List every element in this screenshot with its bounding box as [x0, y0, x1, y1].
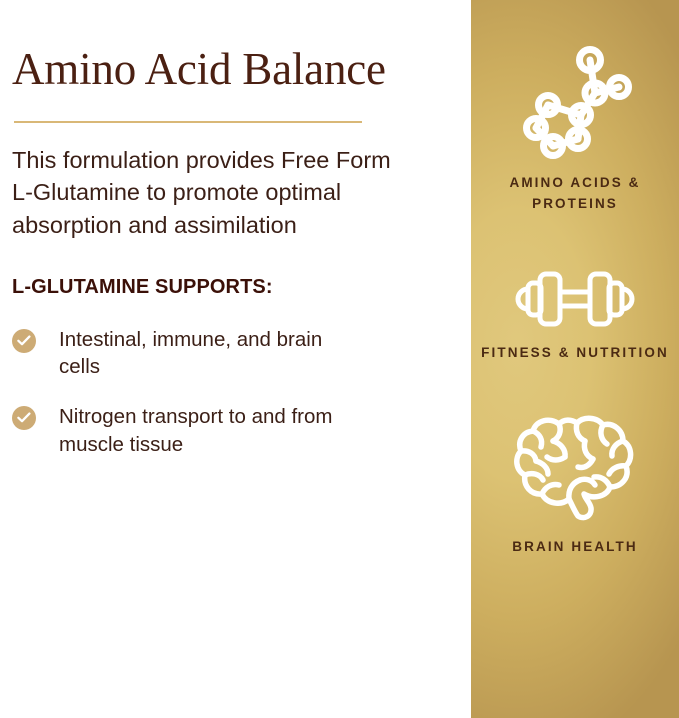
check-icon — [12, 329, 36, 353]
left-content-column: Amino Acid Balance This formulation prov… — [0, 0, 471, 718]
intro-paragraph: This formulation provides Free Form L-Gl… — [12, 123, 404, 241]
feature-brain: BRAIN HEALTH — [471, 364, 679, 558]
benefits-sidebar: AMINO ACIDS & PROTEINS — [471, 0, 679, 718]
list-item: Intestinal, immune, and brain cells — [12, 326, 457, 381]
product-info-panel: Amino Acid Balance This formulation prov… — [0, 0, 679, 718]
molecule-icon — [517, 36, 633, 160]
page-title: Amino Acid Balance — [12, 0, 457, 95]
feature-label: FITNESS & NUTRITION — [481, 343, 669, 364]
feature-label: AMINO ACIDS & PROTEINS — [471, 173, 679, 215]
list-item-label: Nitrogen transport to and from muscle ti… — [36, 403, 359, 458]
dumbbell-icon — [514, 268, 636, 330]
feature-amino-acids: AMINO ACIDS & PROTEINS — [471, 0, 679, 215]
supports-heading: L-GLUTAMINE SUPPORTS: — [12, 241, 457, 299]
list-item-label: Intestinal, immune, and brain cells — [36, 326, 359, 381]
feature-label: BRAIN HEALTH — [512, 537, 637, 558]
brain-icon — [512, 412, 638, 524]
supports-list: Intestinal, immune, and brain cells Nitr… — [12, 299, 457, 458]
check-icon — [12, 406, 36, 430]
feature-fitness: FITNESS & NUTRITION — [471, 215, 679, 364]
list-item: Nitrogen transport to and from muscle ti… — [12, 403, 457, 458]
